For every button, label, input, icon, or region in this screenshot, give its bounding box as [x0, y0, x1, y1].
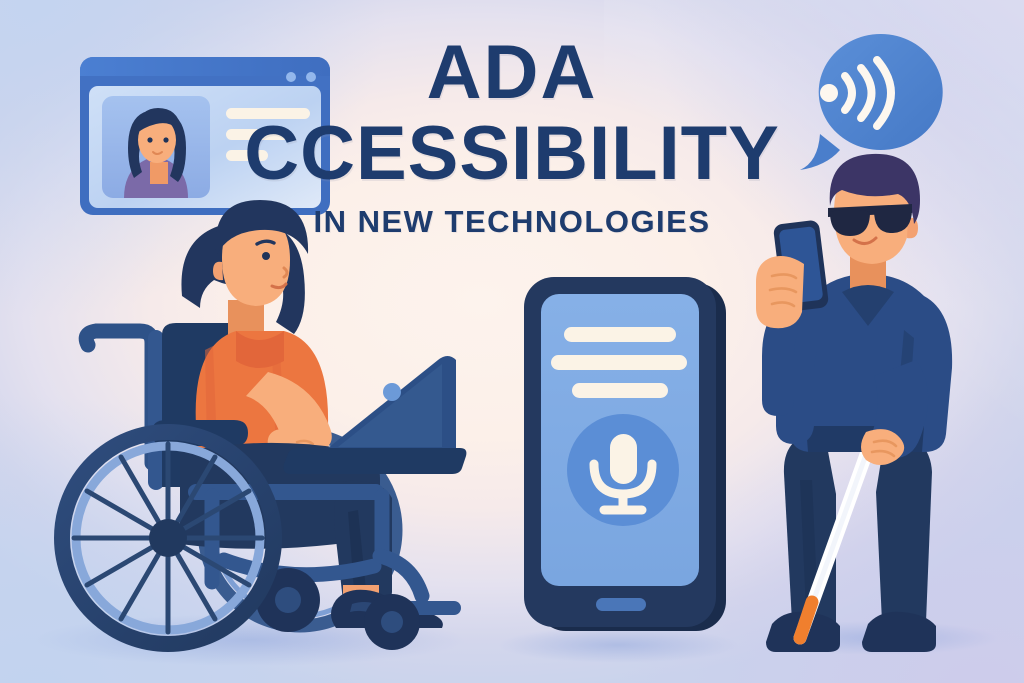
laptop-logo	[383, 383, 401, 401]
blind-man-with-cane[interactable]	[756, 154, 952, 652]
audio-assist-bubble[interactable]	[800, 34, 943, 170]
phone-text-line-2	[551, 355, 687, 370]
voice-assistant-phone[interactable]	[524, 277, 726, 631]
shoe-right	[862, 612, 936, 652]
speech-bubble-tail	[800, 134, 840, 170]
microphone-button[interactable]	[567, 414, 679, 526]
phone-home-indicator[interactable]	[596, 598, 646, 611]
wheelchair-caster-rear	[364, 594, 420, 650]
eye	[262, 252, 270, 260]
wheelchair-main-wheel	[62, 432, 274, 644]
window-text-line-1	[226, 108, 310, 119]
wheelchair-back-post	[148, 330, 164, 490]
phone-text-line-3	[572, 383, 668, 398]
video-accessibility-window[interactable]	[80, 57, 330, 215]
illustration-canvas	[0, 0, 1024, 683]
accessibility-poster: ADA CCESSIBILITY IN NEW TECHNOLOGIES	[0, 0, 1024, 683]
phone-text-line-1	[564, 327, 676, 342]
window-dot-1[interactable]	[286, 72, 296, 82]
hand-holding-phone	[756, 256, 804, 328]
window-dot-2[interactable]	[306, 72, 316, 82]
avatar-thumbnail[interactable]	[102, 96, 210, 198]
window-text-line-3	[226, 150, 268, 161]
wheelchair-user-with-laptop[interactable]	[62, 200, 466, 650]
laptop-base	[284, 448, 467, 474]
window-text-line-2	[226, 129, 289, 140]
